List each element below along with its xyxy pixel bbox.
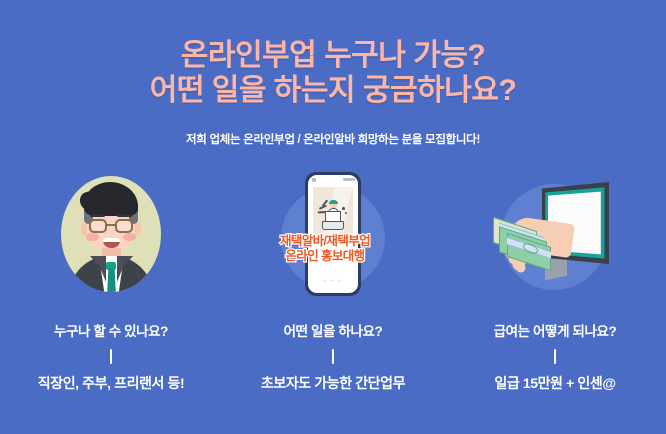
avatar-tie [107, 269, 116, 292]
avatar-hair [84, 182, 138, 216]
feature-caption-1: 누구나 할 수 있나요? 직장인, 주부, 프리랜서 등! [0, 300, 222, 393]
monitor-cash-hand-icon [487, 168, 623, 300]
smartphone-promo-icon: ▪ ▪ ▪ 재택알바/재택부업 온라인 홍보대행 [265, 168, 401, 300]
answer-label-2: 초보자도 가능한 간단업무 [222, 373, 444, 393]
caption-divider-3 [554, 349, 556, 364]
businessman-avatar-icon [43, 168, 179, 300]
feature-caption-2: 어떤 일을 하나요? 초보자도 가능한 간단업무 [222, 300, 444, 393]
question-label-2: 어떤 일을 하나요? [222, 320, 444, 340]
avatar-cheek-left [86, 233, 99, 241]
phone-overlay-line-1: 재택알바/재택부업 [257, 234, 393, 249]
feature-column-1: 누구나 할 수 있나요? 직장인, 주부, 프리랜서 등! [0, 168, 222, 393]
avatar-eyebrow-right [117, 214, 132, 217]
phone-signal-icon [343, 178, 355, 181]
ray-2 [319, 205, 327, 210]
glasses-lens-left-icon [89, 219, 107, 233]
avatar-cheek-right [123, 233, 136, 241]
phone-overlay-line-2: 온라인 홍보대행 [257, 249, 393, 264]
caption-divider-2 [332, 349, 334, 364]
avatar-tie-knot [106, 262, 116, 270]
headline-line-1: 온라인부업 누구나 가능? [181, 39, 486, 72]
subtitle: 저희 업체는 온라인부업 / 온라인알바 희망하는 분을 모집합니다! [0, 131, 666, 147]
question-label-1: 누구나 할 수 있나요? [0, 320, 222, 340]
phone-content-card [313, 187, 353, 241]
question-label-3: 급여는 어떻게 되나요? [444, 320, 666, 340]
spark-dot-2 [345, 212, 347, 214]
phone-menu-icon [312, 178, 316, 182]
spark-dot-1 [342, 207, 345, 210]
phone-status-bar [308, 175, 358, 184]
glasses-bridge-icon [107, 224, 115, 226]
feature-columns: 누구나 할 수 있나요? 직장인, 주부, 프리랜서 등! [0, 168, 666, 393]
headline: 온라인부업 누구나 가능? 어떤 일을 하는지 궁금하나요? [0, 38, 666, 108]
promo-banner: 온라인부업 누구나 가능? 어떤 일을 하는지 궁금하나요? 저희 업체는 온라… [0, 0, 666, 434]
headline-line-2: 어떤 일을 하는지 궁금하나요? [0, 73, 666, 108]
avatar-eyebrow-left [90, 214, 105, 217]
phone-overlay-text: 재택알바/재택부업 온라인 홍보대행 [257, 234, 393, 264]
laptop-base-icon [322, 221, 344, 230]
glasses-lens-right-icon [115, 219, 133, 233]
phone-pagination-dots: ▪ ▪ ▪ [308, 278, 358, 284]
feature-caption-3: 급여는 어떻게 되나요? 일급 15만원 + 인센@ [444, 300, 666, 393]
feature-column-2: ▪ ▪ ▪ 재택알바/재택부업 온라인 홍보대행 어떤 일을 하나요? 초보자도… [222, 168, 444, 393]
feature-column-3: 급여는 어떻게 되나요? 일급 15만원 + 인센@ [444, 168, 666, 393]
answer-label-1: 직장인, 주부, 프리랜서 등! [0, 373, 222, 393]
caption-divider-1 [110, 349, 112, 364]
avatar-circle [61, 176, 161, 292]
person-cap [329, 200, 338, 204]
answer-label-3: 일급 15만원 + 인센@ [444, 373, 666, 393]
